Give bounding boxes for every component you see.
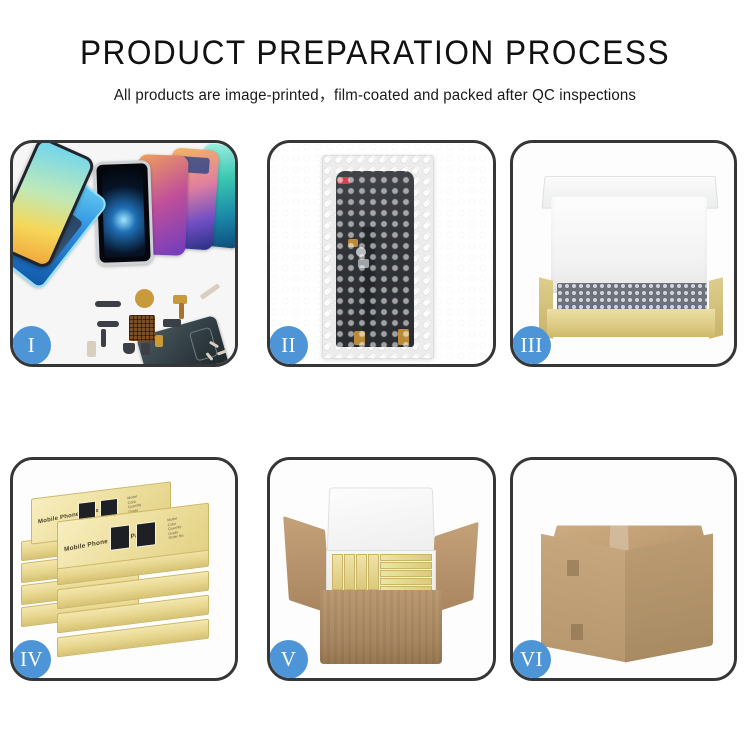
step-panel-5[interactable]: V: [267, 457, 496, 681]
part-flex-cable-a: [97, 321, 119, 327]
foam-sheet-white: [551, 197, 707, 293]
step-panel-2[interactable]: II: [267, 140, 496, 367]
part-module-small: [163, 319, 181, 327]
step-2-image: [270, 143, 493, 364]
carton-right-face: [625, 533, 713, 662]
carton-front-panel: [320, 590, 442, 664]
part-vibrator: [141, 343, 150, 355]
lcd-red-tab: [338, 177, 350, 184]
step-badge-6: VI: [512, 640, 551, 679]
packed-box-2: [344, 554, 355, 590]
part-camera-ring: [135, 289, 154, 308]
step-1-image: [13, 143, 235, 364]
step-panel-4[interactable]: Mobile Phone Spare Parts Model Color Qua…: [10, 457, 238, 681]
carton-handle-nick-bottom: [571, 624, 583, 640]
page-subtitle: All products are image-printed，film-coat…: [11, 83, 739, 105]
step-badge-5: V: [269, 640, 308, 679]
part-battery-tab: [155, 335, 163, 347]
part-chip-grid: [129, 315, 155, 341]
step-3-image: [513, 143, 734, 364]
part-flex-strip: [179, 303, 184, 319]
phone-screen-black: [93, 160, 154, 266]
step-panel-6[interactable]: VI: [510, 457, 737, 681]
part-flex-cable-b: [101, 329, 106, 347]
box-window-front-1: [110, 524, 130, 550]
lcd-connector-c: [398, 329, 409, 345]
step-5-image: [270, 460, 493, 678]
box-spec-text-front: Model Color Quantity Grade Order No.: [167, 515, 184, 541]
page-title: PRODUCT PREPARATION PROCESS: [26, 34, 724, 73]
lcd-module: [358, 259, 369, 268]
packed-box-3: [356, 554, 367, 590]
packed-box-7: [380, 570, 432, 577]
step-badge-1: I: [12, 326, 51, 365]
lcd-flex-cable: [362, 227, 375, 335]
packed-box-4: [368, 554, 379, 590]
product-preparation-process-page: PRODUCT PREPARATION PROCESS All products…: [0, 0, 750, 750]
step-badge-3: III: [512, 326, 551, 365]
step-panel-3[interactable]: III: [510, 140, 737, 367]
carton-handle-nick-top: [567, 560, 579, 576]
box-front-panel: [547, 309, 715, 337]
step-badge-2: II: [269, 326, 308, 365]
carton-left-face: [541, 534, 625, 662]
lcd-connector-a: [348, 239, 358, 247]
foam-lid-open: [327, 488, 436, 555]
box-window-front-2: [136, 521, 156, 547]
packed-box-1: [332, 554, 343, 590]
part-sim-tray: [87, 341, 96, 357]
part-speaker-box: [123, 343, 135, 354]
step-panel-1[interactable]: I: [10, 140, 238, 367]
lcd-speaker: [356, 247, 366, 257]
step-4-image: Mobile Phone Spare Parts Model Color Qua…: [13, 460, 235, 678]
part-speaker-bar: [95, 301, 121, 307]
lcd-screen-assembly: [336, 171, 414, 347]
packed-box-5: [380, 554, 432, 561]
step-badge-4: IV: [12, 640, 51, 679]
part-tweezers: [200, 283, 221, 300]
packed-box-8: [380, 578, 432, 585]
step-6-image: [513, 460, 734, 678]
lcd-connector-b: [354, 331, 365, 345]
packed-box-6: [380, 562, 432, 569]
